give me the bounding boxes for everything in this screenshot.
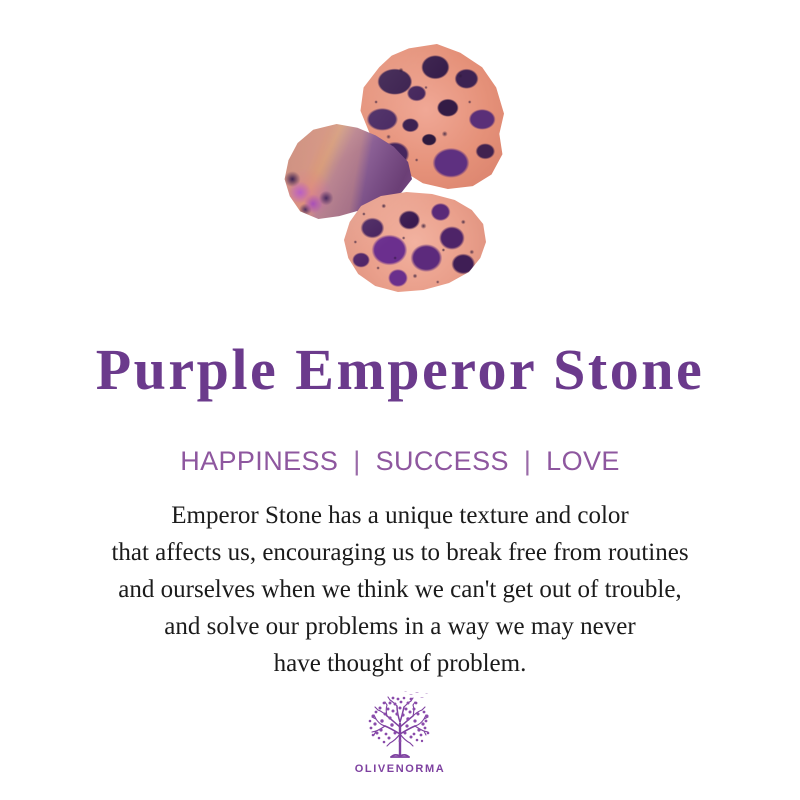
tree-icon <box>357 690 443 762</box>
keyword-happiness: HAPPINESS <box>180 446 338 476</box>
description-text: Emperor Stone has a unique texture and c… <box>0 497 800 682</box>
product-poster: Purple Emperor Stone HAPPINESS | SUCCESS… <box>0 0 800 800</box>
product-image <box>0 0 800 318</box>
bottom-stone <box>344 192 486 292</box>
description-line: and solve our problems in a way we may n… <box>0 608 800 645</box>
stone-group <box>270 28 530 308</box>
keyword-love: LOVE <box>546 446 620 476</box>
description-line: and ourselves when we think we can't get… <box>0 571 800 608</box>
description-line: that affects us, encouraging us to break… <box>0 534 800 571</box>
description-line: have thought of problem. <box>0 645 800 682</box>
brand-logo: OLIVENORMA <box>0 690 800 775</box>
description-line: Emperor Stone has a unique texture and c… <box>0 497 800 534</box>
birds-icon <box>404 691 428 698</box>
keyword-row: HAPPINESS | SUCCESS | LOVE <box>0 444 800 478</box>
page-title: Purple Emperor Stone <box>0 338 800 402</box>
keyword-separator-2: | <box>517 446 538 476</box>
keyword-separator-1: | <box>346 446 367 476</box>
keyword-success: SUCCESS <box>376 446 509 476</box>
brand-name: OLIVENORMA <box>0 763 800 775</box>
